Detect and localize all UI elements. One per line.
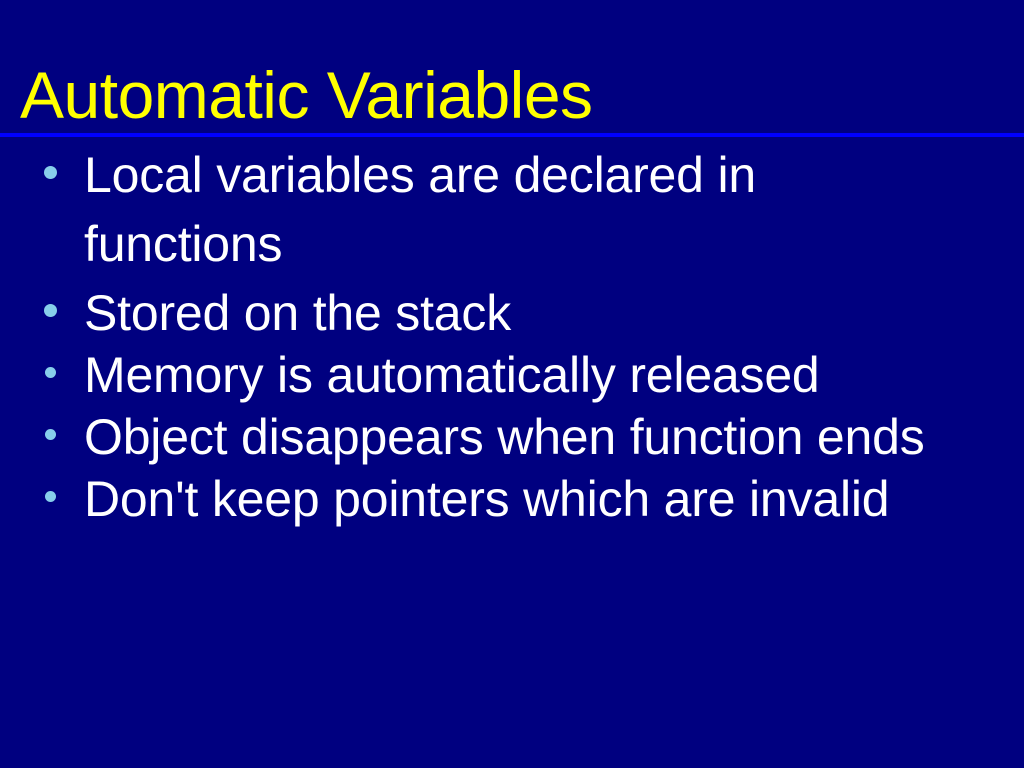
bullet-dot-icon <box>45 367 56 378</box>
bullet-dot-icon <box>44 304 57 317</box>
title-divider-rule <box>0 133 1024 137</box>
bullet-text: Stored on the stack <box>84 282 1024 344</box>
bullet-text: Memory is automatically released <box>84 344 1024 406</box>
bullet-dot-icon <box>44 166 57 179</box>
list-item: Memory is automatically released <box>0 344 1024 406</box>
list-item: Object disappears when function ends <box>0 406 1024 468</box>
list-item: Don't keep pointers which are invalid <box>0 468 1024 530</box>
bullet-text-continuation: functions <box>84 206 1024 282</box>
bullet-text: Local variables are declared in <box>84 144 1024 206</box>
presentation-slide: Automatic Variables Local variables are … <box>0 0 1024 768</box>
bullet-list: Local variables are declared in function… <box>0 144 1024 530</box>
list-item: Local variables are declared in function… <box>0 144 1024 282</box>
bullet-text: Object disappears when function ends <box>84 406 1024 468</box>
bullet-dot-icon <box>45 429 56 440</box>
bullet-text: Don't keep pointers which are invalid <box>84 468 1024 530</box>
list-item: Stored on the stack <box>0 282 1024 344</box>
slide-title: Automatic Variables <box>20 58 593 132</box>
bullet-dot-icon <box>45 491 56 502</box>
